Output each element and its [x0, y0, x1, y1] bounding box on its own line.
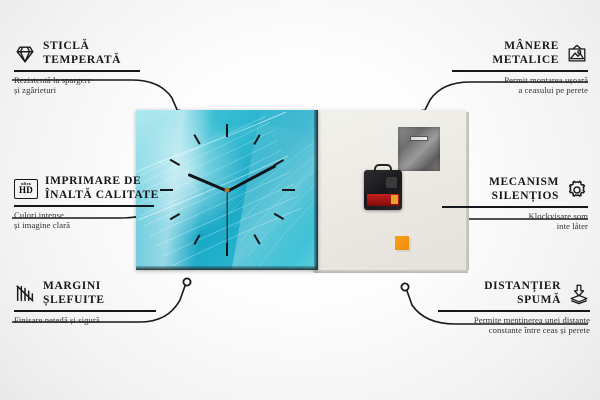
callout-title: IMPRIMARE DE ÎNALTĂ CALITATE [45, 175, 159, 202]
callout-description: Permite menținerea unei distanțe constan… [426, 315, 590, 336]
ultra-hd-icon: ultra HD [14, 179, 38, 199]
diagonal-lines-icon [14, 283, 36, 305]
callout-rule [438, 310, 590, 312]
clock-mechanism [364, 170, 402, 210]
clock-second-hand [226, 191, 227, 248]
callout-title: MÂNERE METALICE [492, 40, 559, 67]
callout-description: Rezistentă la spargere și zgârieturi [14, 75, 174, 96]
callout-rule [14, 205, 154, 207]
diamond-icon [14, 43, 36, 65]
leader-endpoint-foam-spacer [401, 283, 408, 290]
callout-metal-handles: MÂNERE METALICE Permit montarea ușoară a… [428, 40, 588, 96]
callout-description: Permit montarea ușoară a ceasului pe per… [428, 75, 588, 96]
callout-title: STICLĂ TEMPERATĂ [43, 40, 121, 67]
callout-title: MECANISM SILENȚIOS [489, 176, 559, 203]
callout-foam-spacer: DISTANȚIER SPUMĂ Permite menținerea unei… [426, 280, 590, 336]
callout-title: MARGINI ȘLEFUITE [43, 280, 105, 307]
callout-print-quality: ultra HD IMPRIMARE DE ÎNALTĂ CALITATE Cu… [14, 175, 186, 231]
foam-spacer [395, 236, 409, 250]
infographic-stage: STICLĂ TEMPERATĂ Rezistentă la spargere … [0, 0, 600, 400]
callout-description: Klockvisare som inte låter [426, 211, 588, 232]
callout-rule [442, 206, 588, 208]
callout-rule [452, 70, 588, 72]
hanging-picture-frame-icon [566, 43, 588, 65]
callout-tempered-glass: STICLĂ TEMPERATĂ Rezistentă la spargere … [14, 40, 174, 96]
callout-polished-edges: MARGINI ȘLEFUITE Finisare netedă și sigu… [14, 280, 184, 325]
gear-icon [566, 179, 588, 201]
callout-rule [14, 70, 140, 72]
metal-hanger-bracket [398, 127, 440, 171]
callout-description: Finisare netedă și sigură [14, 315, 184, 326]
battery [367, 194, 399, 206]
foam-spacer-arrow-icon [568, 283, 590, 305]
callout-title: DISTANȚIER SPUMĂ [484, 280, 561, 307]
leader-endpoint-polished-edges [183, 278, 190, 285]
callout-silent-mechanism: MECANISM SILENȚIOS Klockvisare som inte … [426, 176, 588, 232]
callout-rule [14, 310, 156, 312]
callout-description: Culori intense și imagine clară [14, 210, 186, 231]
clock-center-cap [225, 188, 230, 193]
